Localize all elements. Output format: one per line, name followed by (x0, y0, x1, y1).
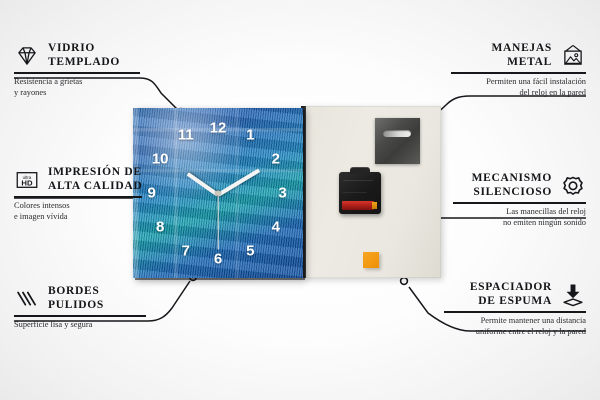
feature-divider (14, 315, 146, 317)
feature-sub-line1: Permite mantener una distancia (444, 316, 586, 327)
feature-divider (14, 196, 142, 198)
feature-title-line2: SILENCIOSO (472, 186, 552, 200)
feature-title-line1: ESPACIADOR (470, 281, 552, 295)
ultra-hd-icon: ultra HD (14, 167, 40, 193)
feature-sub-line2: e imagen vívida (14, 212, 144, 223)
diagonal-stripes-icon (14, 286, 40, 312)
feature-divider (451, 72, 586, 74)
leader-dot-espaciador (401, 278, 408, 285)
feature-vidrio-templado[interactable]: VIDRIO TEMPLADO Resistencia a grietas y … (14, 42, 142, 98)
feature-sub-line1: Las manecillas del reloj (453, 207, 586, 218)
feature-sub-line2: uniforme entre el reloj y la pared (444, 327, 586, 338)
product-photo: 12 1 2 3 4 5 6 7 8 9 10 11 (133, 106, 308, 278)
clock-numeral-12: 12 (210, 121, 227, 136)
feature-header: ultra HD IMPRESIÓN DE ALTA CALIDAD (14, 166, 144, 193)
movement-hanger-tab (350, 167, 370, 174)
movement-seam (343, 180, 373, 181)
feature-sub-line2: y rayones (14, 88, 142, 99)
feature-title-line2: METAL (492, 56, 553, 70)
feature-header: ESPACIADOR DE ESPUMA (444, 281, 586, 308)
metal-hanger-plate (375, 118, 420, 164)
gear-icon (560, 173, 586, 199)
feature-bordes-pulidos[interactable]: BORDES PULIDOS Superficie lisa y segura (14, 285, 148, 331)
clock-numeral-7: 7 (182, 243, 190, 258)
feature-header: MECANISMO SILENCIOSO (453, 172, 586, 199)
clock-numeral-1: 1 (246, 128, 254, 143)
clock-numeral-8: 8 (156, 220, 164, 235)
clock-numeral-4: 4 (272, 220, 280, 235)
arrow-down-plate-icon (560, 282, 586, 308)
feature-title-line2: TEMPLADO (48, 56, 120, 70)
feature-mecanismo-silencioso[interactable]: MECANISMO SILENCIOSO Las manecillas del … (453, 172, 586, 228)
feature-divider (444, 311, 586, 313)
feature-sub-line1: Colores intensos (14, 201, 144, 212)
aa-battery (342, 201, 374, 210)
feature-title-line2: PULIDOS (48, 299, 104, 313)
clock-second-hand (217, 194, 218, 250)
feature-sub-line2: del reloj en la pared (451, 88, 586, 99)
feature-header: VIDRIO TEMPLADO (14, 42, 142, 69)
hanger-slot (383, 130, 411, 137)
diamond-icon (14, 43, 40, 69)
picture-frame-icon (560, 43, 586, 69)
feature-title-line1: VIDRIO (48, 42, 120, 56)
feature-sub-line1: Superficie lisa y segura (14, 320, 148, 331)
feature-sub-line1: Resistencia a grietas (14, 77, 142, 88)
clock-center-pin (216, 191, 221, 196)
feature-title-line1: IMPRESIÓN DE (48, 166, 142, 180)
clock-numeral-5: 5 (246, 243, 254, 258)
feature-divider (453, 202, 586, 204)
svg-text:HD: HD (21, 178, 33, 187)
clock-numeral-9: 9 (148, 186, 156, 201)
leader-line-manejas (432, 96, 586, 118)
feature-header: BORDES PULIDOS (14, 285, 148, 312)
feature-sub-line2: no emiten ningún sonido (453, 218, 586, 229)
feature-header: MANEJAS METAL (451, 42, 586, 69)
feature-impresion-alta-calidad[interactable]: ultra HD IMPRESIÓN DE ALTA CALIDAD Color… (14, 166, 144, 222)
infographic-canvas: 12 1 2 3 4 5 6 7 8 9 10 11 (0, 0, 600, 400)
feature-title-line2: DE ESPUMA (470, 295, 552, 309)
feature-manejas-metal[interactable]: MANEJAS METAL Permiten una fácil instala… (451, 42, 586, 98)
clock-numeral-2: 2 (272, 152, 280, 167)
clock-numeral-3: 3 (278, 186, 286, 201)
feature-divider (14, 72, 140, 74)
clock-back-panel (303, 106, 441, 278)
feature-espaciador-espuma[interactable]: ESPACIADOR DE ESPUMA Permite mantener un… (444, 281, 586, 337)
feature-sub-line1: Permiten una fácil instalación (451, 77, 586, 88)
clock-numeral-6: 6 (214, 252, 222, 267)
feature-title-line1: BORDES (48, 285, 104, 299)
feature-title-line1: MECANISMO (472, 172, 552, 186)
clock-numeral-11: 11 (178, 128, 194, 143)
quartz-movement-box (339, 172, 381, 214)
clock-face: 12 1 2 3 4 5 6 7 8 9 10 11 (133, 108, 303, 278)
movement-seam-2 (343, 192, 367, 193)
clock-hour-hand (187, 172, 220, 196)
clock-numeral-10: 10 (152, 152, 169, 167)
clock-minute-hand (217, 169, 260, 197)
foam-spacer-orange (363, 252, 379, 268)
feature-title-line2: ALTA CALIDAD (48, 180, 142, 194)
feature-title-line1: MANEJAS (492, 42, 553, 56)
